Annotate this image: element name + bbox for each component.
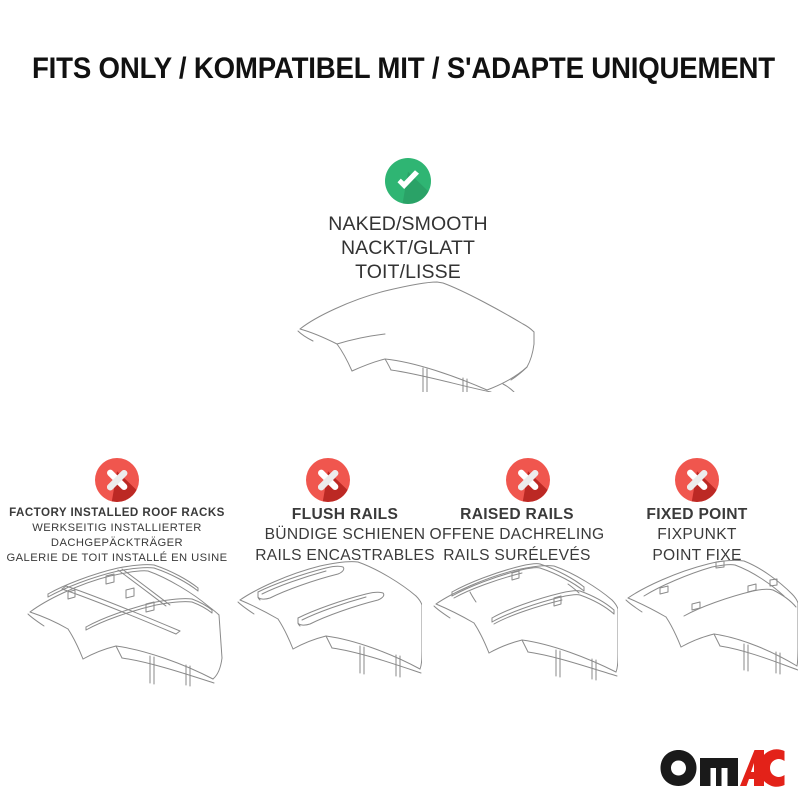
label-line-1: FIXED POINT <box>597 505 797 525</box>
label-line-1: RAISED RAILS <box>407 505 627 525</box>
label-line-2: OFFENE DACHRELING <box>407 525 627 545</box>
x-glyph <box>675 458 719 502</box>
x-circle-icon-flush-rails <box>306 458 350 502</box>
raised-rails-illustration <box>418 552 618 687</box>
label-line-2: WERKSEITIG INSTALLIERTER <box>2 521 232 536</box>
label-line-1: FACTORY INSTALLED ROOF RACKS <box>2 505 232 521</box>
check-glyph <box>385 158 431 204</box>
factory-roof-rack-illustration <box>8 552 223 687</box>
x-circle-icon-fixed-point <box>675 458 719 502</box>
x-glyph <box>95 458 139 502</box>
x-circle-icon-factory-roof-rack <box>95 458 139 502</box>
x-circle-icon-raised-rails <box>506 458 550 502</box>
compatible-label-line-2: NACKT/GLATT <box>258 237 558 261</box>
flush-rails-illustration <box>222 552 422 687</box>
label-line-2: FIXPUNKT <box>597 525 797 545</box>
check-circle-icon <box>385 158 431 204</box>
x-glyph <box>506 458 550 502</box>
fixed-point-illustration <box>608 552 798 687</box>
page-title: FITS ONLY / KOMPATIBEL MIT / S'ADAPTE UN… <box>32 52 768 86</box>
compatible-label-line-1: NAKED/SMOOTH <box>258 213 558 237</box>
naked-smooth-roof-illustration <box>255 272 555 392</box>
omac-logo <box>660 748 785 788</box>
omac-logo-mark <box>660 748 785 788</box>
label-line-3: DACHGEPÄCKTRÄGER <box>2 536 232 551</box>
x-glyph <box>306 458 350 502</box>
